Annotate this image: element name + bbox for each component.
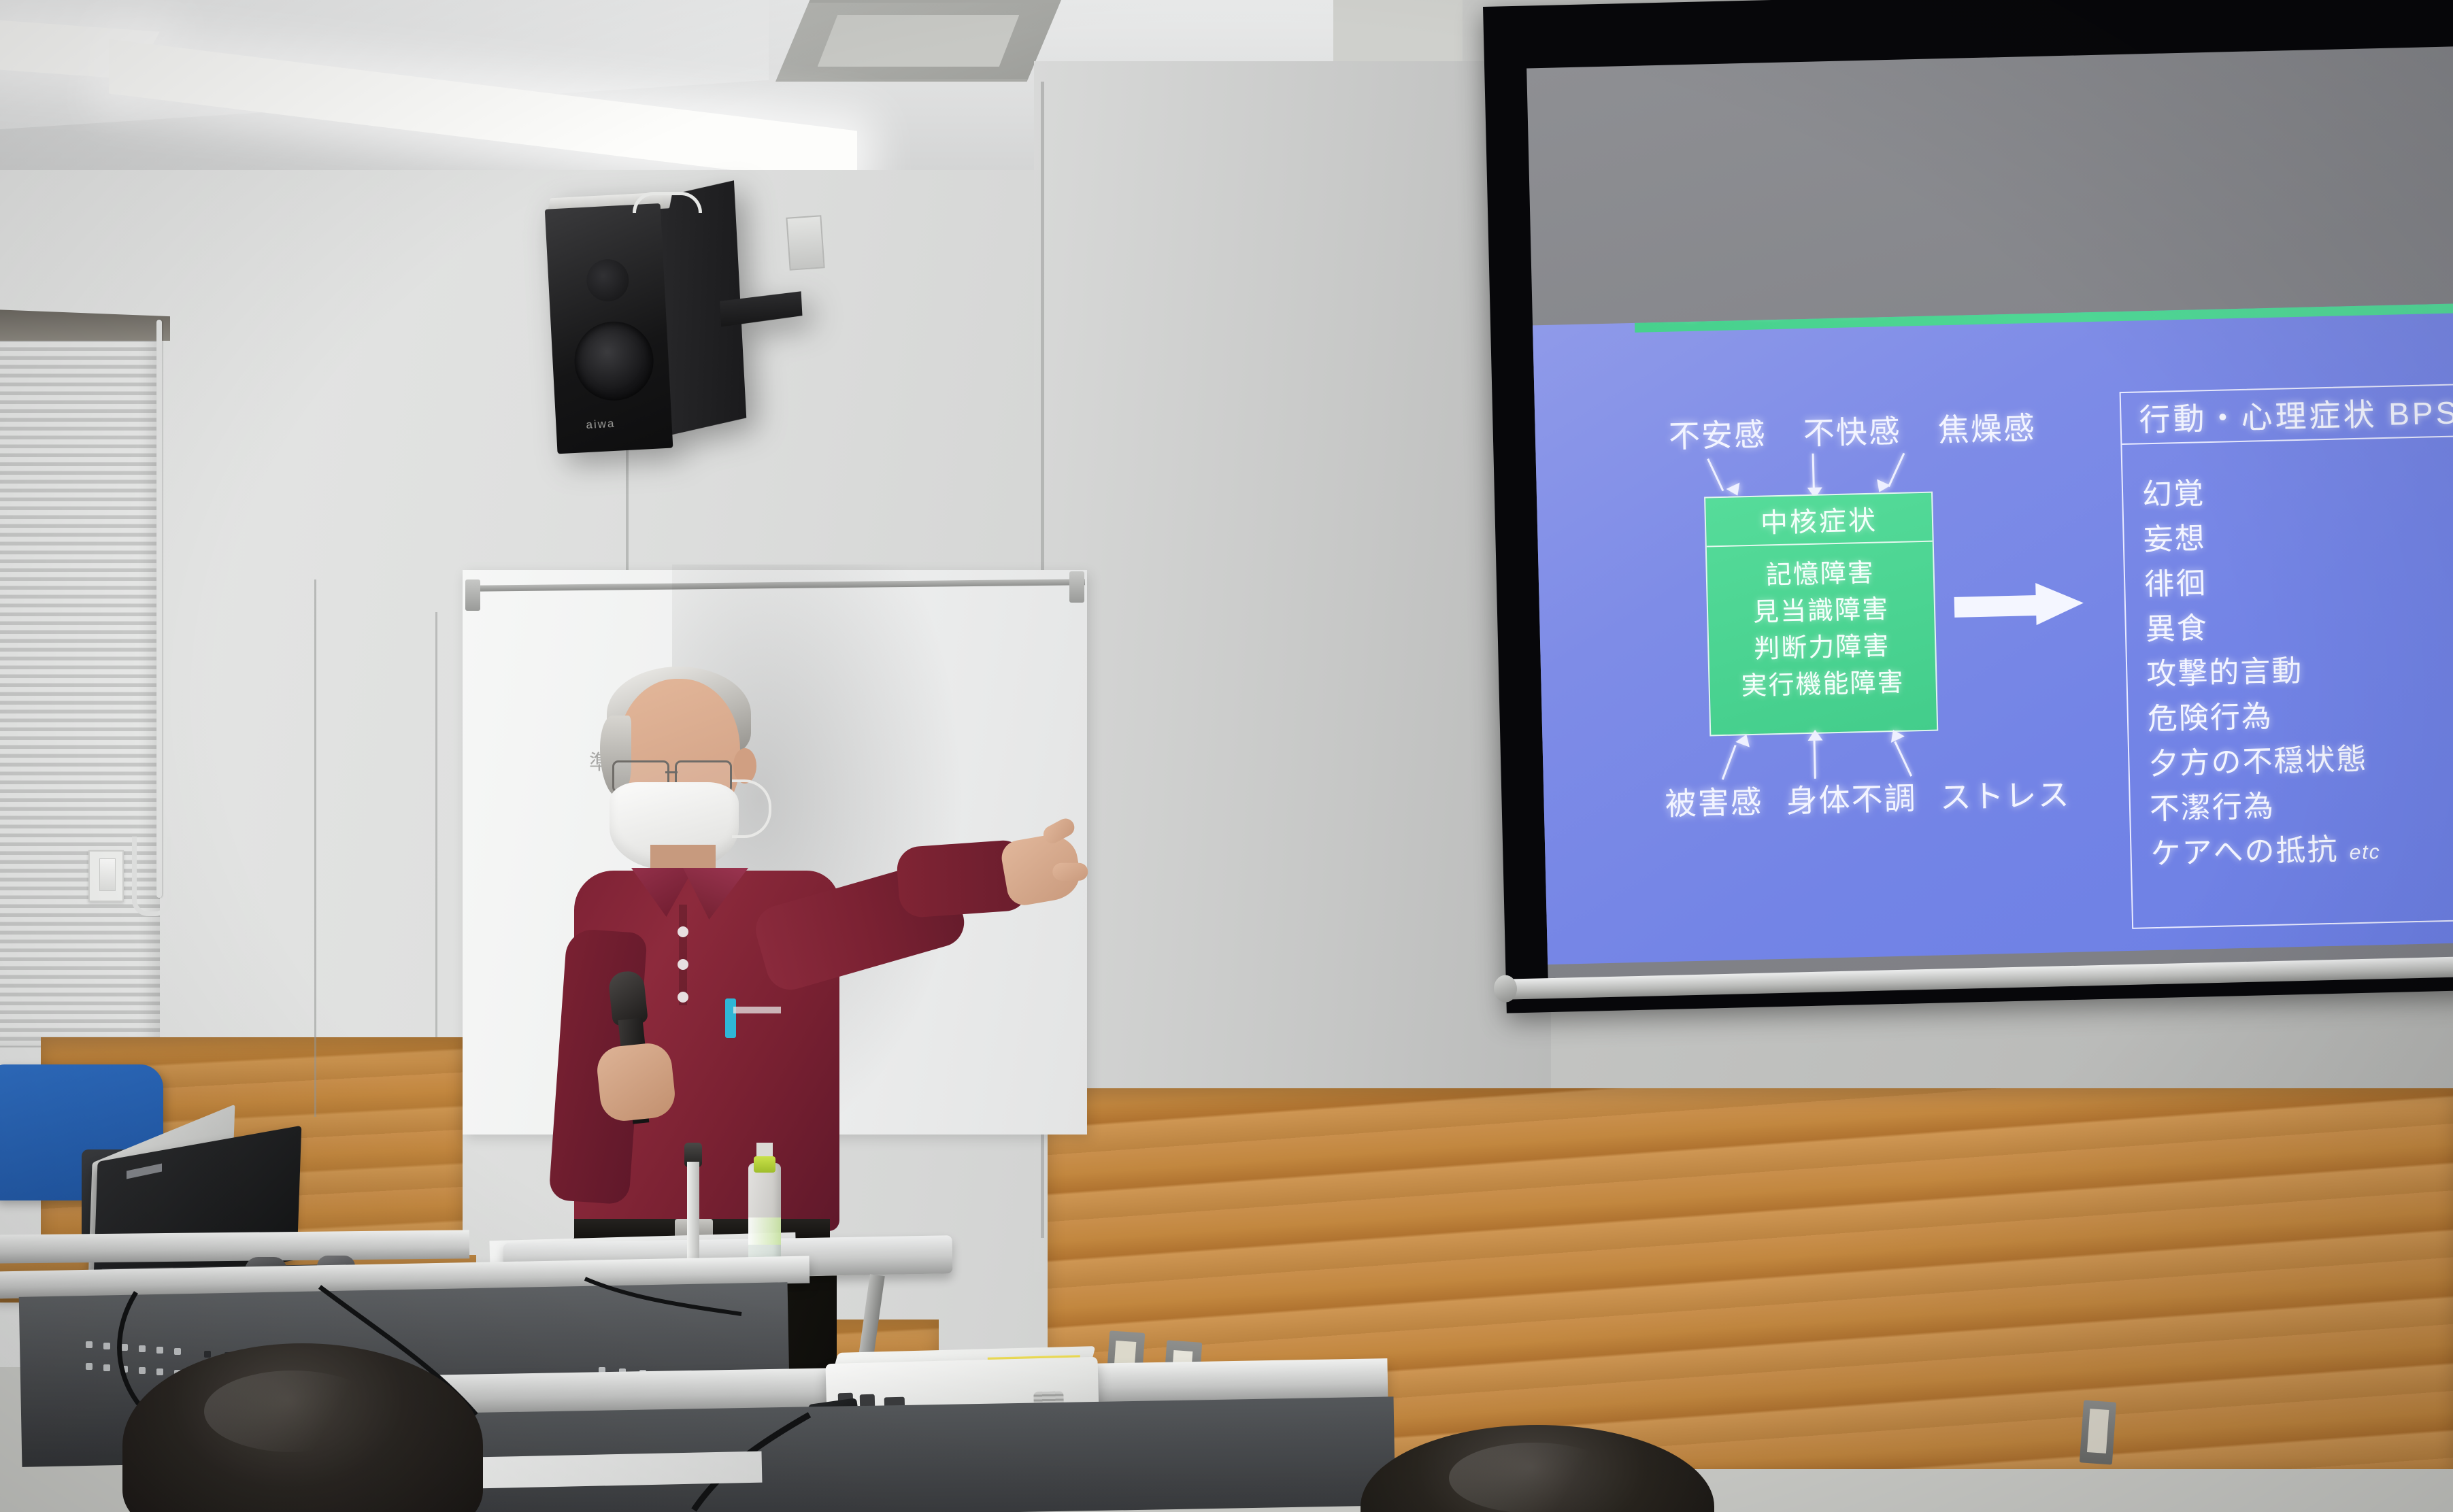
bpsd-item-3: 異食 bbox=[2145, 599, 2453, 652]
lecture-room-photo: aiwa 準備 認知症の症状 中核症状と行動・心理症状 不安感 不快感 焦燥感 bbox=[0, 0, 2453, 1512]
arrow-right-icon bbox=[1954, 583, 2084, 626]
presenter-mask-strap bbox=[732, 779, 771, 838]
presenter-shirt-placket bbox=[679, 905, 687, 1005]
top-label-2: 焦燥感 bbox=[1937, 403, 2037, 450]
bottom-label-0: 被害感 bbox=[1665, 777, 1764, 824]
arrow-up-icon bbox=[1807, 730, 1822, 741]
arrow-up-icon bbox=[1814, 741, 1816, 779]
bottom-label-2: ストレス bbox=[1939, 770, 2071, 818]
bpsd-header: 行動・心理症状 BPSD bbox=[2121, 384, 2453, 445]
bpsd-item-2: 徘徊 bbox=[2144, 554, 2453, 607]
presenter-pocket-card bbox=[733, 1007, 781, 1013]
arrow-down-icon bbox=[1888, 453, 1905, 487]
bottom-label-1: 身体不調 bbox=[1786, 773, 1918, 822]
core-symptoms-box: 中核症状 記憶障害 見当識障害 判断力障害 実行機能障害 bbox=[1704, 492, 1938, 737]
core-item-2: 判断力障害 bbox=[1709, 628, 1935, 670]
arrow-down-icon bbox=[1812, 454, 1815, 490]
papers-front-desk bbox=[476, 1451, 763, 1489]
presenter-shirt-button bbox=[678, 926, 688, 937]
bpsd-box: 行動・心理症状 BPSD 幻覚 妄想 徘徊 異食 攻撃的言動 危険行為 夕方の不… bbox=[2120, 382, 2453, 929]
top-label-1: 不快感 bbox=[1803, 407, 1902, 454]
bpsd-item-1: 妄想 bbox=[2143, 509, 2453, 562]
speaker-wall-plate[interactable] bbox=[786, 215, 824, 270]
bpsd-item-8: ケアへの抵抗etc bbox=[2150, 823, 2453, 877]
slide-bottom-labels: 被害感 身体不調 ストレス bbox=[1665, 769, 2101, 824]
slide-top-labels: 不安感 不快感 焦燥感 bbox=[1668, 403, 2077, 457]
speaker-tweeter-icon bbox=[586, 258, 630, 303]
arrow-down-icon bbox=[1707, 458, 1724, 491]
water-bottle-cap bbox=[754, 1156, 775, 1173]
top-label-0: 不安感 bbox=[1668, 409, 1767, 456]
bpsd-item-8-label: ケアへの抵抗 bbox=[2150, 833, 2339, 871]
whiteboard-seam bbox=[314, 579, 316, 1117]
core-symptoms-list: 記憶障害 見当識障害 判断力障害 実行機能障害 bbox=[1707, 542, 1936, 707]
arrow-up-icon bbox=[1722, 745, 1737, 780]
speaker-face: aiwa bbox=[545, 203, 673, 454]
wall-outlet-plate-3[interactable] bbox=[2080, 1400, 2116, 1464]
presenter-shirt-button bbox=[678, 992, 688, 1003]
ceiling-vent bbox=[775, 0, 1061, 82]
bpsd-item-4: 攻撃的言動 bbox=[2146, 643, 2453, 697]
bpsd-etc: etc bbox=[2349, 841, 2381, 864]
core-item-0: 記憶障害 bbox=[1707, 554, 1933, 597]
bpsd-item-5: 危険行為 bbox=[2147, 688, 2453, 742]
presenter-shirt-button bbox=[678, 959, 688, 970]
core-item-1: 見当識障害 bbox=[1708, 591, 1935, 633]
window-blinds bbox=[0, 333, 160, 1047]
core-item-3: 実行機能障害 bbox=[1709, 664, 1936, 706]
presenter-pen bbox=[725, 998, 736, 1038]
bpsd-item-0: 幻覚 bbox=[2141, 464, 2453, 518]
core-symptoms-header: 中核症状 bbox=[1705, 493, 1933, 548]
whiteboard-clip-right bbox=[1069, 571, 1084, 603]
bpsd-list: 幻覚 妄想 徘徊 異食 攻撃的言動 危険行為 夕方の不穏状態 不潔行為 ケアへの… bbox=[2122, 446, 2453, 877]
bpsd-item-6: 夕方の不穏状態 bbox=[2148, 733, 2453, 787]
wall-speaker: aiwa bbox=[544, 192, 754, 461]
projection-screen: 認知症の症状 中核症状と行動・心理症状 不安感 不快感 焦燥感 中核症状 記憶障… bbox=[1483, 0, 2453, 1068]
speaker-brand-label: aiwa bbox=[586, 417, 616, 432]
whiteboard-clip-left bbox=[465, 579, 480, 611]
bpsd-item-7: 不潔行為 bbox=[2149, 778, 2453, 832]
speaker-woofer-icon bbox=[573, 320, 656, 403]
slide-content-area: 認知症の症状 中核症状と行動・心理症状 不安感 不快感 焦燥感 中核症状 記憶障… bbox=[1533, 303, 2453, 964]
arrow-up-icon bbox=[1894, 741, 1912, 777]
speaker-cable bbox=[633, 192, 702, 213]
blind-cord[interactable] bbox=[156, 320, 162, 898]
light-switch[interactable] bbox=[88, 850, 124, 902]
presenter-hand-left bbox=[595, 1041, 678, 1124]
